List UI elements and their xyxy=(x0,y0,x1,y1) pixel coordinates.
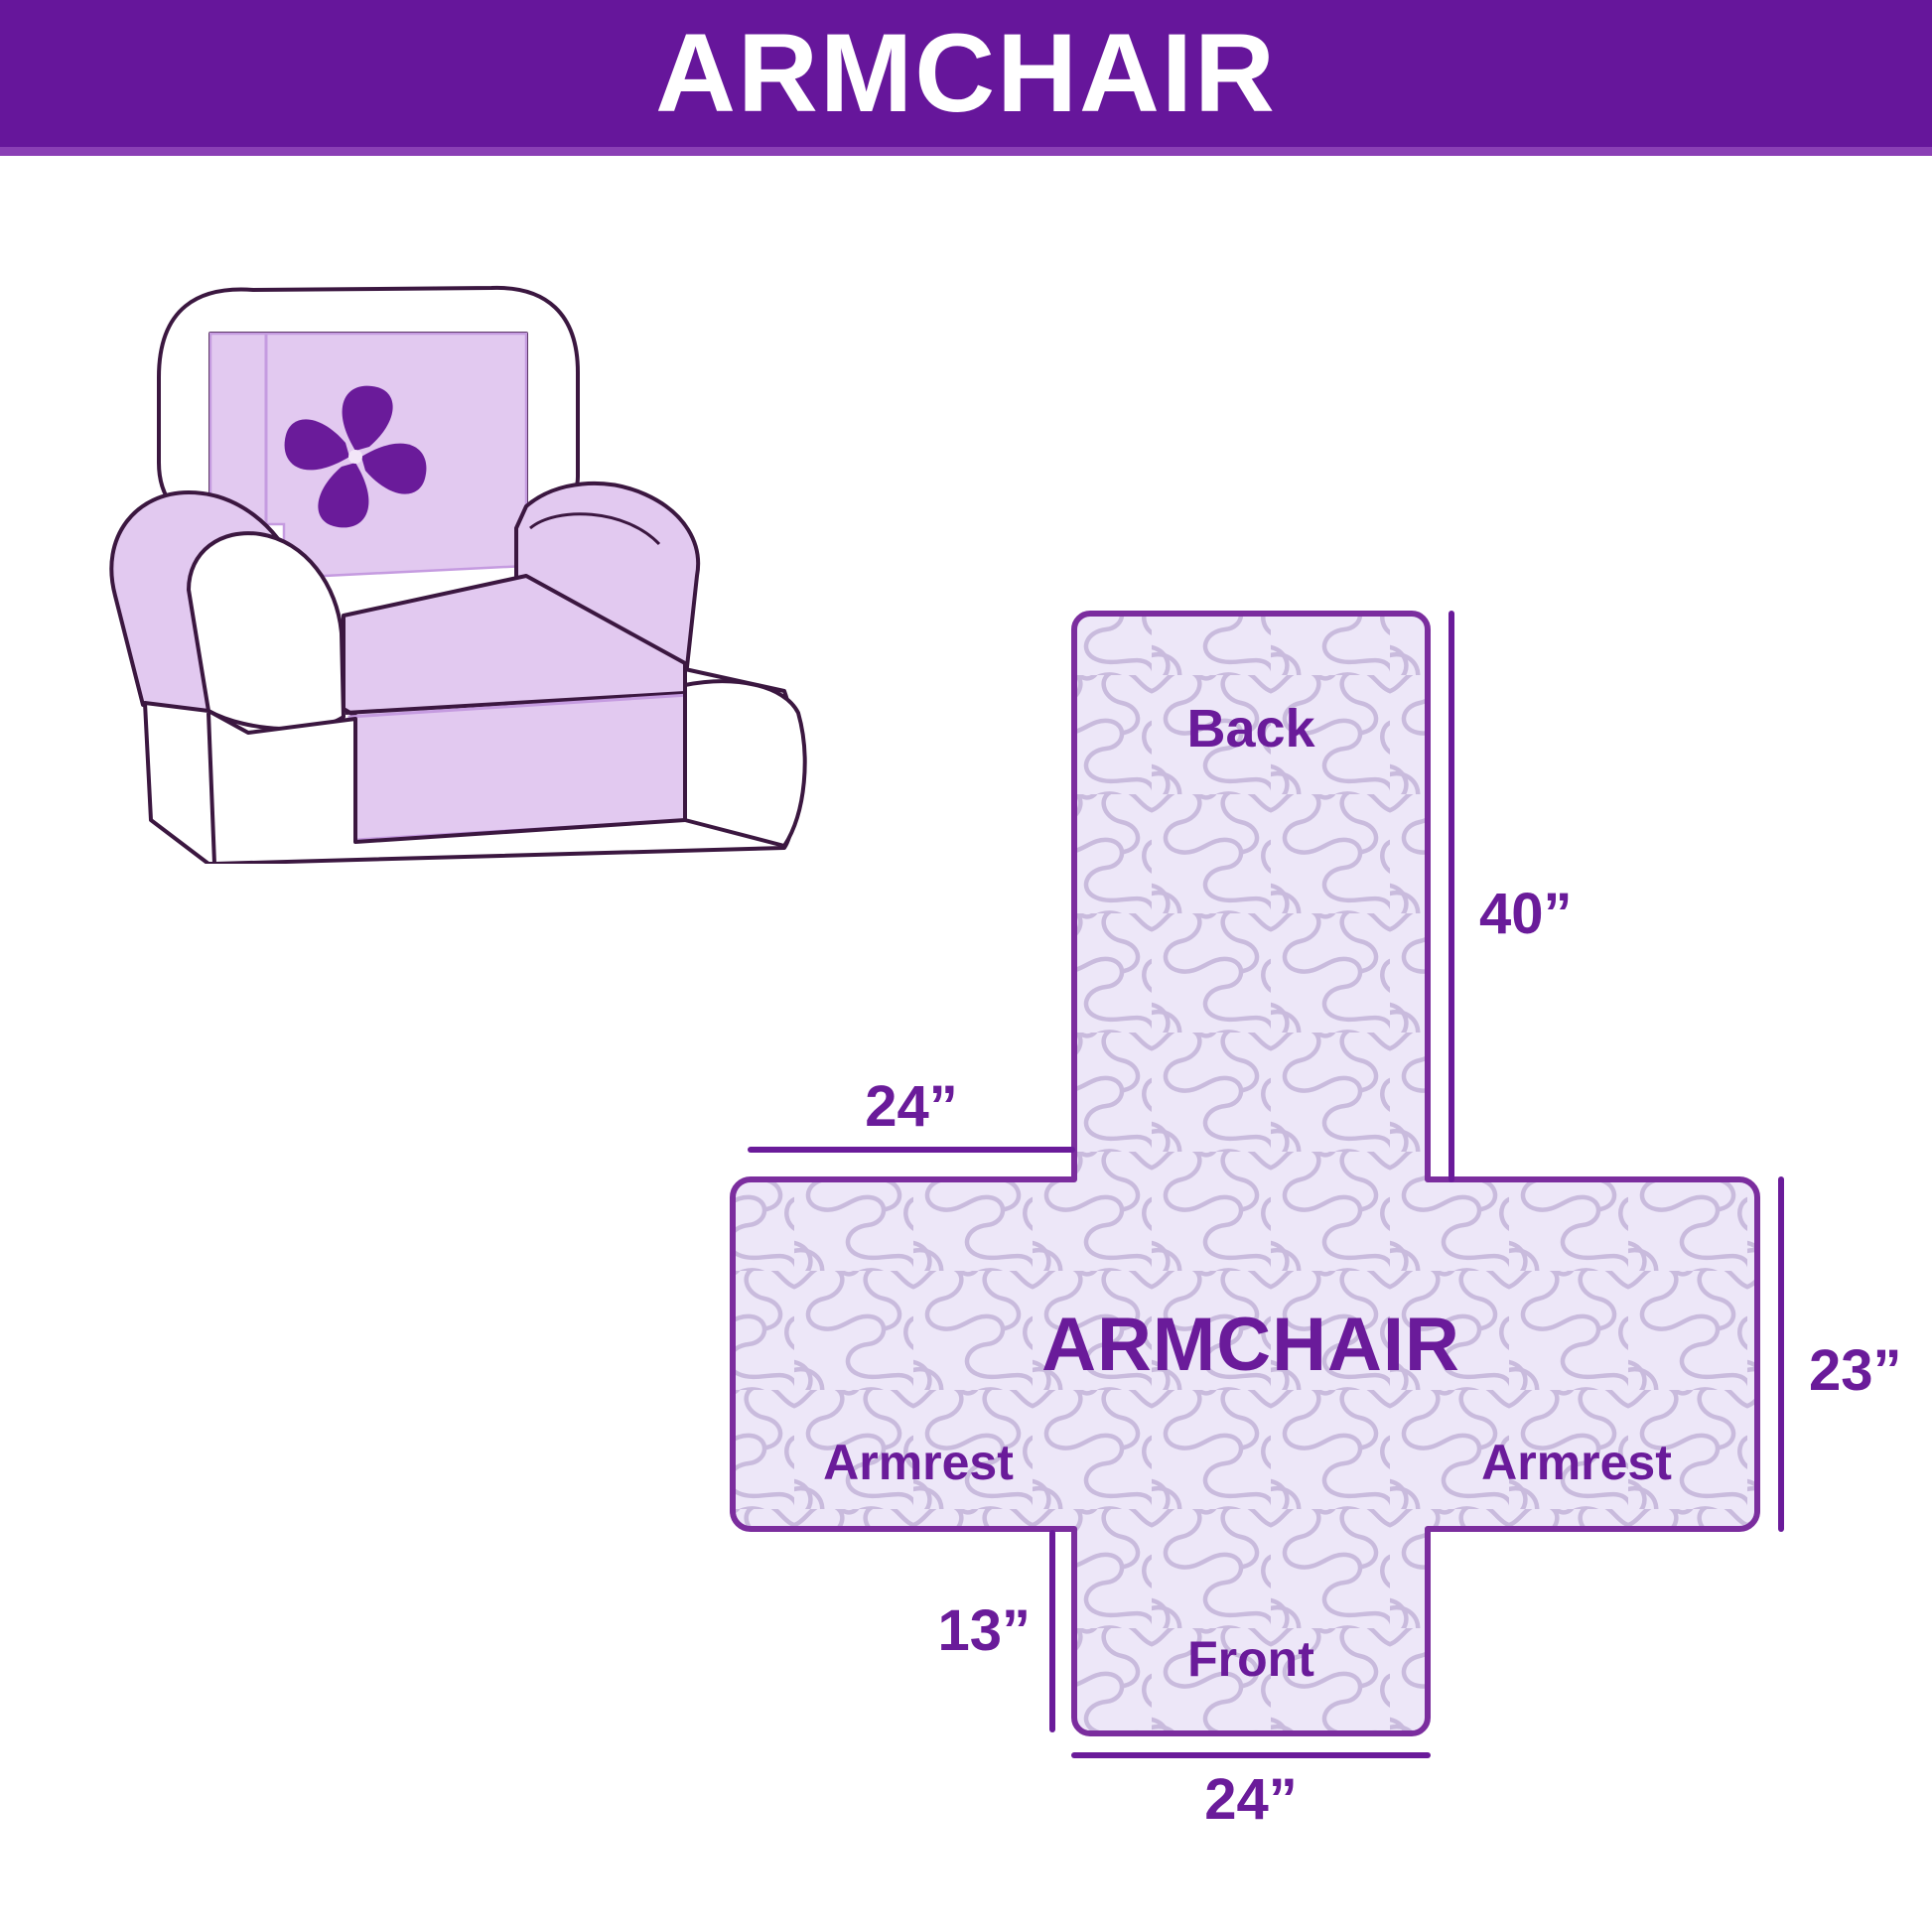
header-divider xyxy=(0,147,1932,156)
page-header: ARMCHAIR xyxy=(0,0,1932,147)
dimension-back-width: 24” xyxy=(751,1074,1072,1150)
cover-measurement-diagram: Back ARMCHAIR Armrest Armrest Front 40” … xyxy=(556,437,1932,1827)
product-diagram-page: ARMCHAIR xyxy=(0,0,1932,1932)
panel-label-armrest-left: Armrest xyxy=(823,1435,1014,1490)
cover-cross-path xyxy=(733,614,1757,1733)
panel-label-back: Back xyxy=(1186,699,1315,759)
dimension-front-width: 24” xyxy=(1074,1755,1428,1827)
panel-label-armrest-right: Armrest xyxy=(1481,1435,1672,1490)
dimension-back-height: 40” xyxy=(1451,614,1573,1179)
dimension-value-24-bottom: 24” xyxy=(1204,1767,1298,1827)
dimension-front-height: 13” xyxy=(937,1533,1052,1729)
page-title: ARMCHAIR xyxy=(655,18,1277,129)
dimension-value-13: 13” xyxy=(937,1598,1031,1663)
cover-center-label: ARMCHAIR xyxy=(1041,1303,1460,1387)
dimension-value-40: 40” xyxy=(1479,882,1573,946)
cover-outline-shape xyxy=(733,614,1757,1733)
panel-label-front: Front xyxy=(1187,1631,1314,1687)
dimension-value-23: 23” xyxy=(1809,1338,1902,1403)
dimension-armrest-height: 23” xyxy=(1781,1179,1902,1529)
dimension-value-24-top: 24” xyxy=(865,1074,958,1139)
